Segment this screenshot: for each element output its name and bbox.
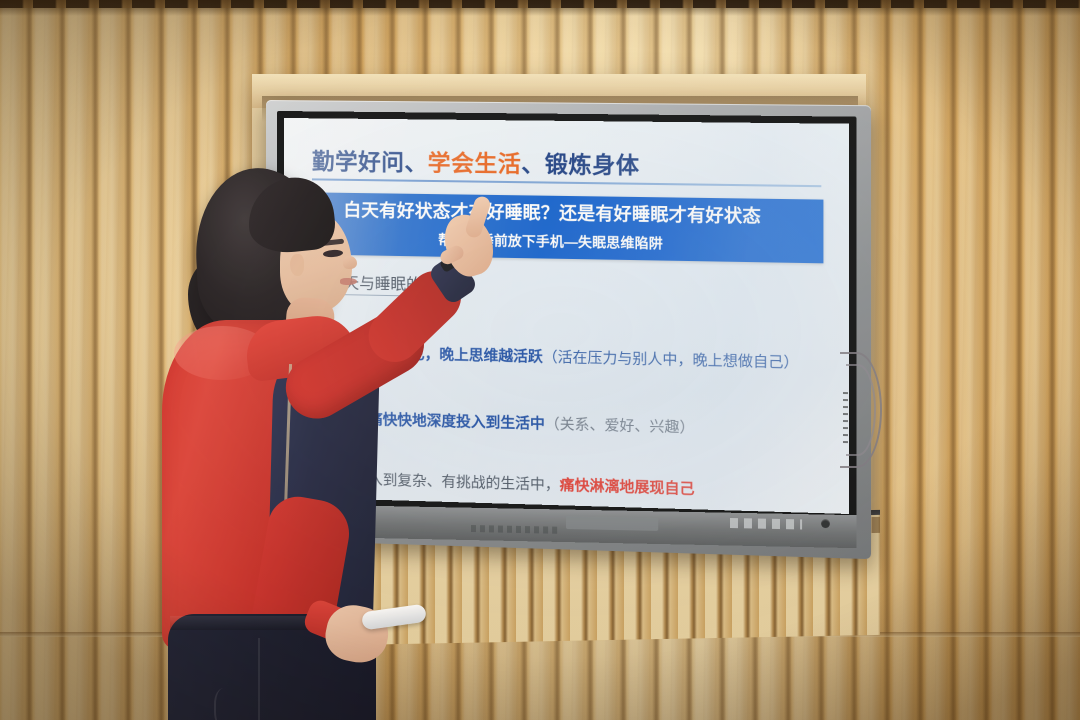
display-control-buttons[interactable]	[730, 518, 802, 529]
ear	[290, 254, 304, 276]
female-presenter	[140, 168, 450, 720]
presentation-room-photo: 勤学好问、学会生活、锻炼身体 白天有好状态才有好睡眠？还是有好睡眠才有好状态 帮…	[0, 0, 1080, 720]
ir-receiver-window	[566, 516, 658, 531]
power-button-icon[interactable]	[821, 519, 830, 528]
trouser-pocket	[214, 688, 238, 720]
slide-title-part3: 、锻炼身体	[521, 152, 639, 179]
nose	[343, 256, 357, 269]
line-3-parenthetical: （关系、爱好、兴趣）	[545, 417, 695, 437]
line-2-parenthetical: （活在压力与别人中，晚上想做自己）	[543, 350, 799, 372]
trouser-seam	[258, 638, 260, 720]
line-4-highlight: 痛快淋漓地展现自己	[560, 478, 695, 498]
lips	[340, 278, 357, 285]
